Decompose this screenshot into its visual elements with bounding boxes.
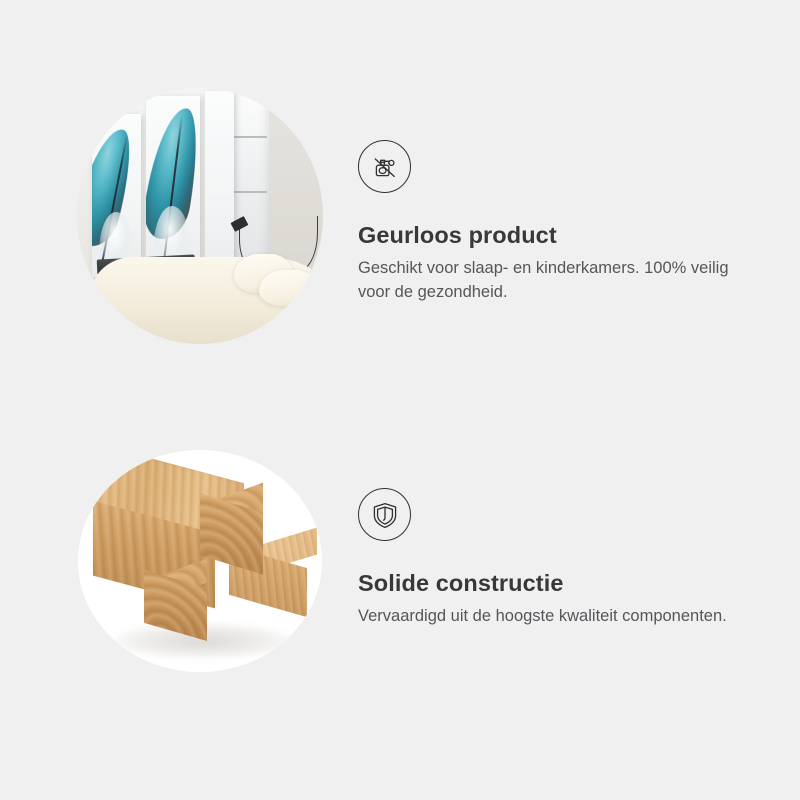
feature-block-odourless: Geurloos product Geschikt voor slaap- en… — [0, 60, 800, 380]
bedroom-feather-wall-art-photo — [77, 88, 323, 344]
art-panel-right — [205, 91, 235, 280]
feature-description: Vervaardigd uit de hoogste kwaliteit com… — [358, 605, 750, 629]
feature-description: Geschikt voor slaap- en kinderkamers. 10… — [358, 257, 750, 305]
feature-block-solid-construction: Solide constructie Vervaardigd uit de ho… — [0, 422, 800, 742]
wooden-beams-photo — [78, 450, 322, 672]
shield-icon — [358, 488, 411, 541]
no-perfume-glyph — [368, 150, 402, 184]
shield-glyph — [369, 499, 401, 531]
no-perfume-icon — [358, 140, 411, 193]
art-panel-middle — [146, 96, 200, 280]
photo-content-wood — [78, 450, 322, 672]
art-panel-left — [92, 114, 141, 278]
feature-text-solid-construction: Solide constructie Vervaardigd uit de ho… — [358, 488, 758, 629]
feature-title: Geurloos product — [358, 222, 758, 250]
room-background — [77, 88, 323, 344]
feature-title: Solide constructie — [358, 570, 758, 598]
feature-text-odourless: Geurloos product Geschikt voor slaap- en… — [358, 140, 758, 305]
feature-highlights-page: Geurloos product Geschikt voor slaap- en… — [0, 0, 800, 800]
photo-content-bedroom — [77, 88, 323, 344]
pillow-shape — [259, 270, 318, 306]
wood-scene — [78, 450, 322, 672]
